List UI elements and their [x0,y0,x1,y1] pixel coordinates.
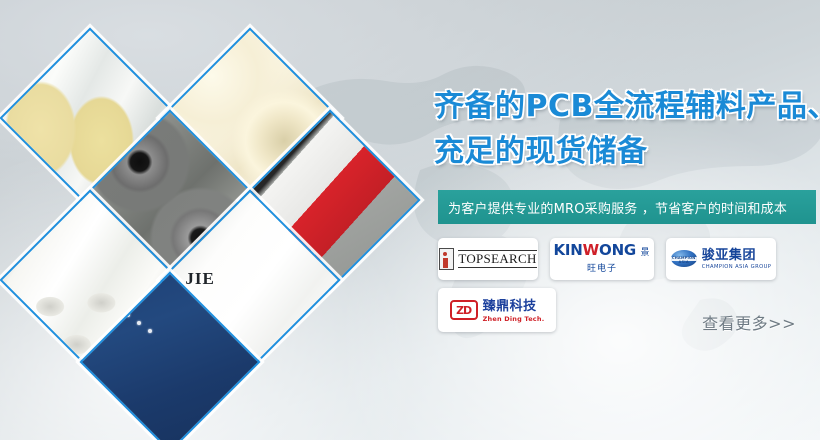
logo-kinwong[interactable]: KINWONG 景旺电子 [550,238,654,280]
zhen-ding-lockup: ZD 臻鼎科技 Zhen Ding Tech. [450,298,545,323]
globe-label: CHAMPION ASIA [671,257,697,264]
logo-row-1: TOPSEARCH KINWONG 景旺电子 CHAMPION ASIA [438,238,820,280]
kinwong-part-w: W [583,241,599,259]
kinwong-part-b: ONG [599,241,636,259]
champion-asia-latin: CHAMPION ASIA GROUP [702,265,772,270]
topsearch-mark-icon [439,248,454,270]
topsearch-lockup: TOPSEARCH [439,248,536,270]
subtitle-bar: 为客户提供专业的MRO采购服务 ，节省客户的时间和成本 [438,190,816,224]
view-more-link[interactable]: 查看更多>> [702,310,796,334]
zhen-ding-text: 臻鼎科技 Zhen Ding Tech. [483,298,545,323]
subtitle-text: 为客户提供专业的MRO采购服务 ，节省客户的时间和成本 [448,198,787,217]
zhen-ding-latin: Zhen Ding Tech. [483,316,545,323]
tile-caption-jie: JIE [185,269,214,289]
kinwong-wordmark: KINWONG [553,241,636,259]
champion-asia-lockup: CHAMPION ASIA 骏亚集团 CHAMPION ASIA GROUP [671,247,772,270]
zhen-ding-mark-icon: ZD [450,300,478,320]
kinwong-part-a: KIN [553,241,582,259]
zhen-ding-chinese: 臻鼎科技 [483,299,537,314]
logo-champion-asia[interactable]: CHAMPION ASIA 骏亚集团 CHAMPION ASIA GROUP [666,238,776,280]
logo-topsearch[interactable]: TOPSEARCH [438,238,538,280]
banner-copy: 齐备的PCB全流程辅料产品、 充足的现货储备 为客户提供专业的MRO采购服务 ，… [430,0,820,440]
kinwong-lockup: KINWONG 景旺电子 [550,243,654,275]
promo-banner: JIE 齐备的PCB全流程辅料产品、 充足的现货储备 为客户提供专业的MRO采购… [0,0,820,440]
champion-asia-chinese: 骏亚集团 [702,248,756,263]
headline-line-1: 齐备的PCB全流程辅料产品、 [434,88,820,126]
logo-zhen-ding[interactable]: ZD 臻鼎科技 Zhen Ding Tech. [438,288,556,332]
champion-asia-text: 骏亚集团 CHAMPION ASIA GROUP [702,247,772,270]
topsearch-wordmark: TOPSEARCH [458,250,536,269]
product-photo-collage: JIE [0,0,420,440]
headline-line-2: 充足的现货储备 [434,133,648,171]
globe-icon: CHAMPION ASIA [671,250,697,267]
